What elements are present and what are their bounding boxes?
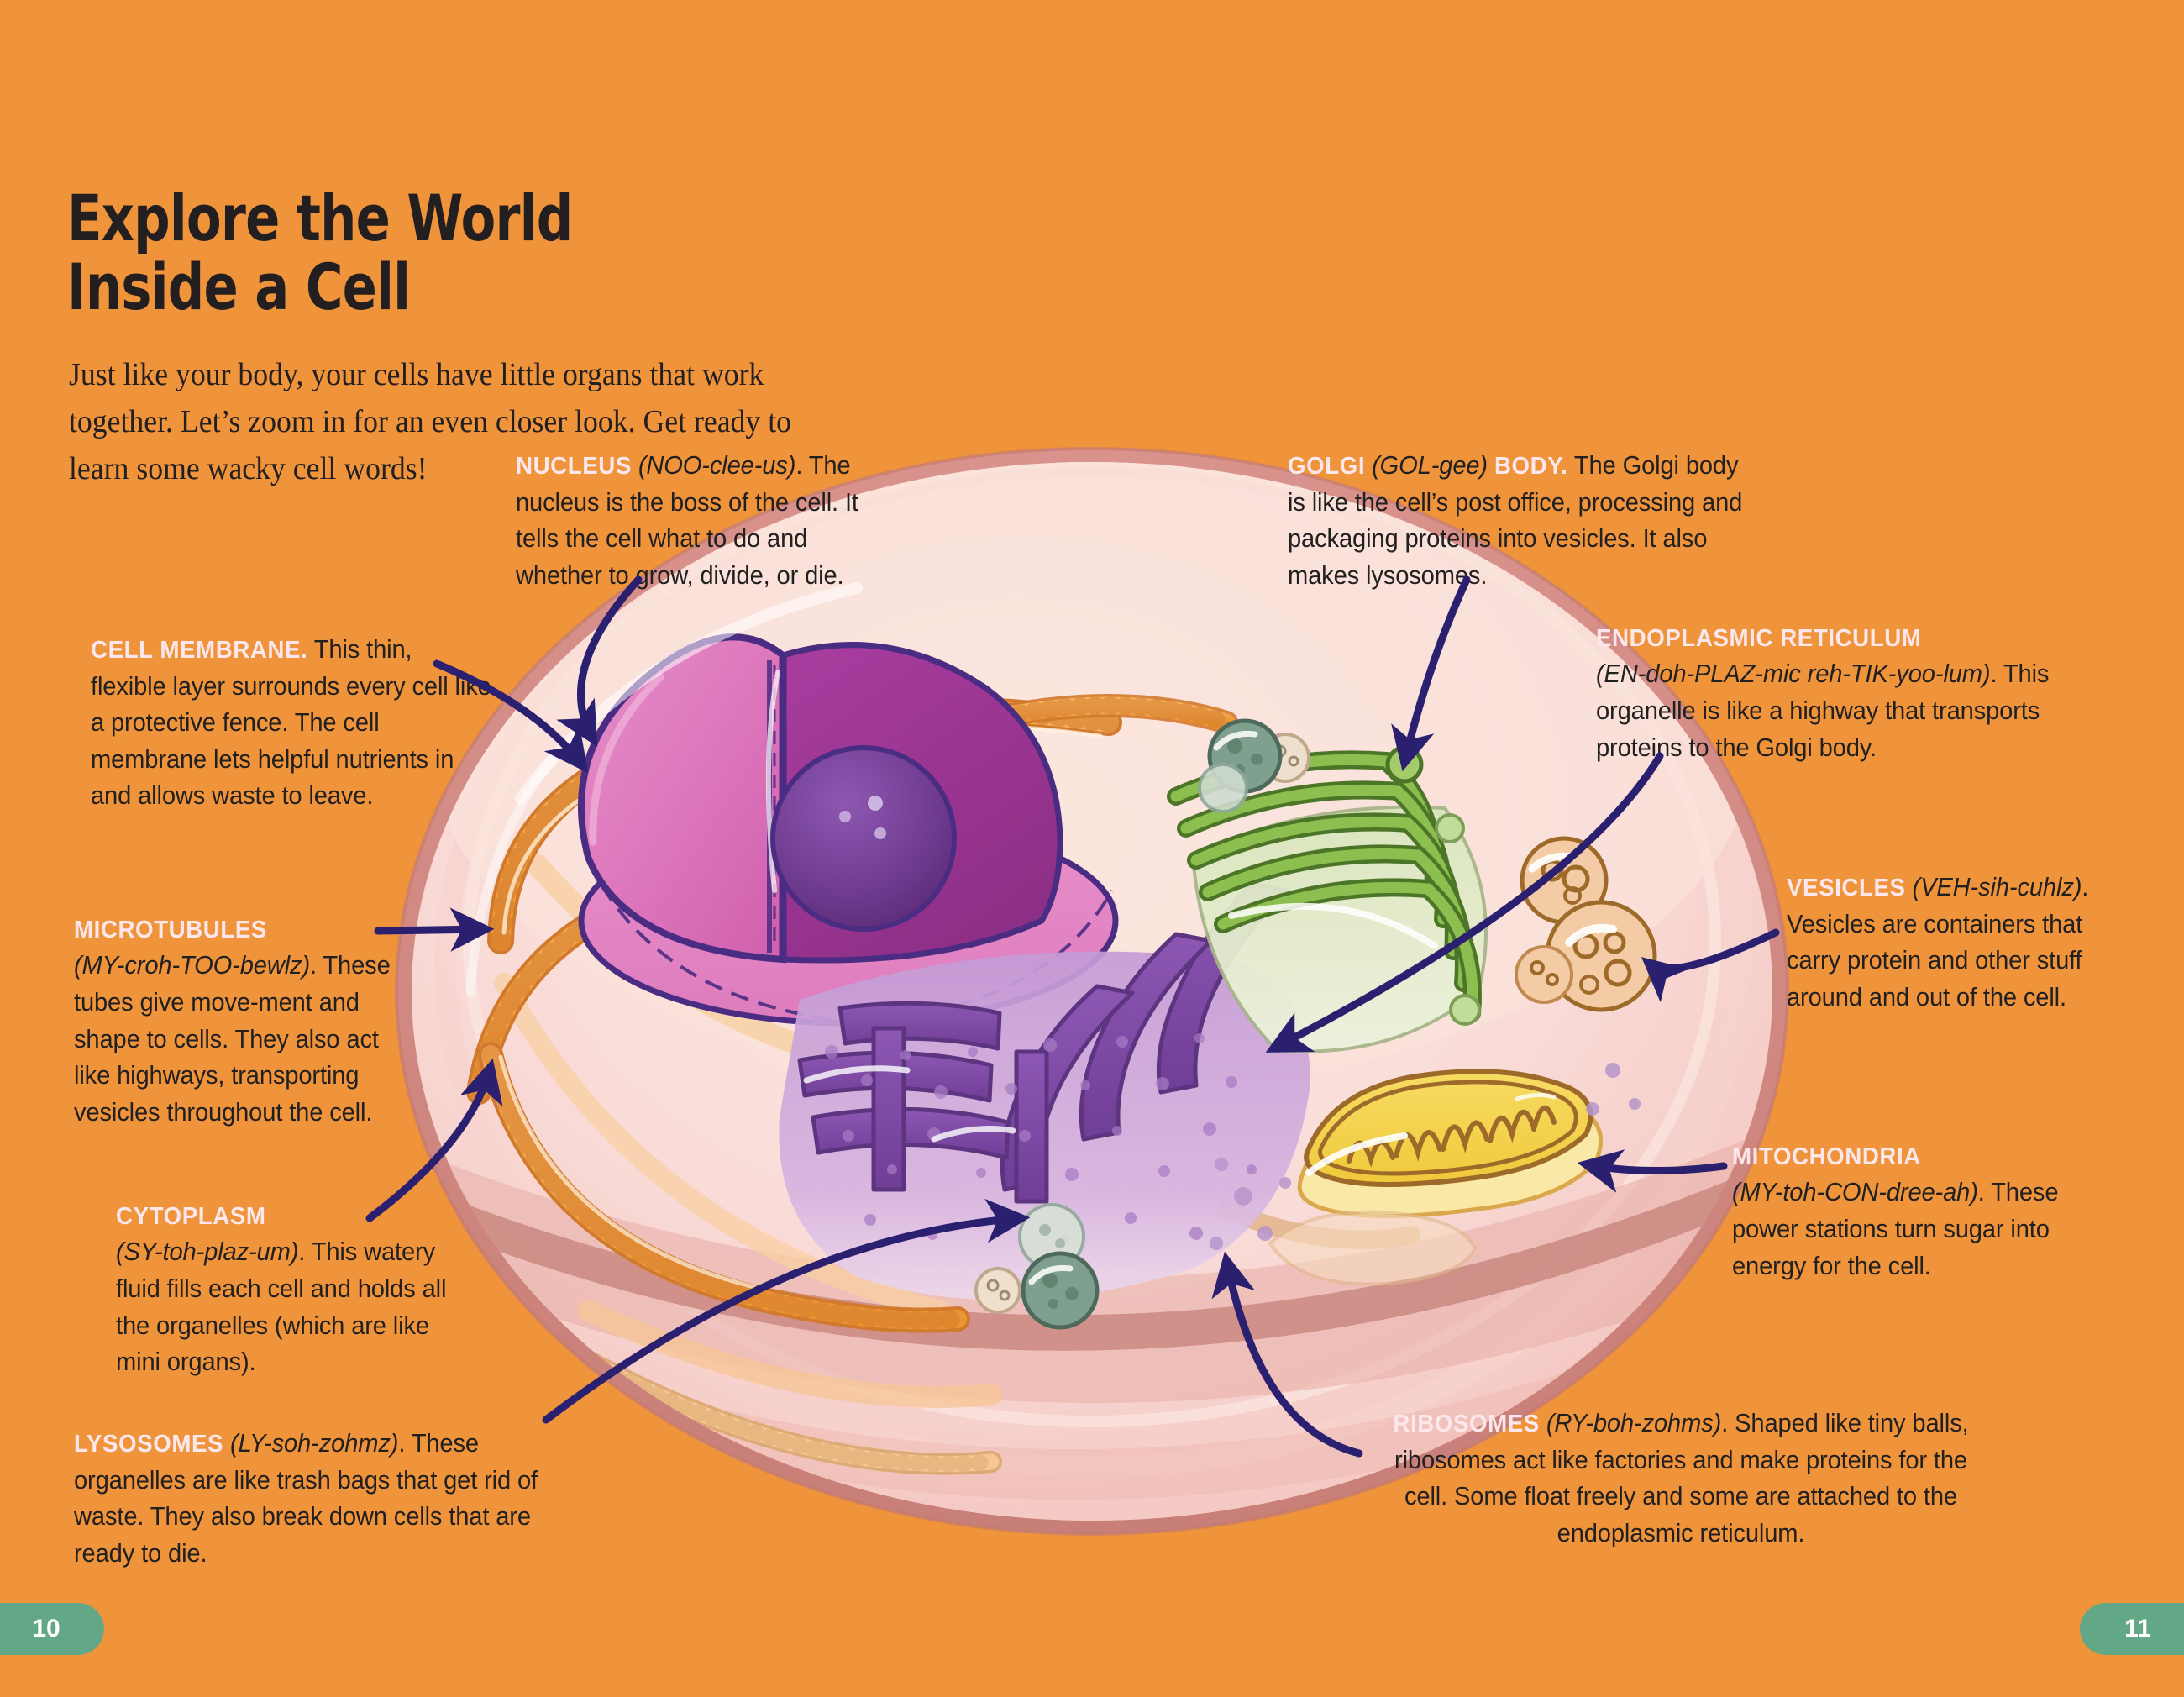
- callout-pronunciation-ribosomes: (RY-boh-zohms): [1546, 1409, 1721, 1437]
- lysosome-4: [1023, 1253, 1097, 1327]
- callout-term-nucleus: NUCLEUS: [516, 453, 632, 480]
- callout-endoplasmic-reticulum: ENDOPLASMIC RETICULUM (EN-doh-PLAZ-mic r…: [1596, 622, 2061, 766]
- callout-pronunciation-microtubules: (MY-croh-TOO-bewlz): [74, 951, 310, 980]
- callout-cytoplasm: CYTOPLASM (SY-toh-plaz-um). This watery …: [116, 1200, 469, 1381]
- callout-ribosomes: RIBOSOMES (RY-boh-zohms). Shaped like ti…: [1380, 1405, 1982, 1552]
- callout-golgi: GOLGI (GOL-gee) BODY. The Golgi body is …: [1288, 448, 1753, 594]
- callout-term-mitochondria: MITOCHONDRIA: [1732, 1140, 2093, 1174]
- callout-pronunciation-cytoplasm: (SY-toh-plaz-um): [116, 1237, 298, 1266]
- page-number-left: 10: [0, 1603, 104, 1655]
- callout-vesicles: VESICLES (VEH-sih-cuhlz). Vesicles are c…: [1787, 870, 2108, 1016]
- lysosome-2: [1200, 764, 1247, 812]
- callout-term-vesicles: VESICLES: [1787, 875, 1906, 901]
- vesicle-3: [1516, 947, 1572, 1002]
- callout-term-cytoplasm: CYTOPLASM: [116, 1200, 469, 1234]
- callout-term-lysosomes: LYSOSOMES: [74, 1431, 223, 1458]
- callout-term-golgi: GOLGI: [1288, 453, 1365, 480]
- callout-pronunciation-nucleus: (NOO-clee-us): [638, 451, 795, 480]
- callout-cell-membrane: CELL MEMBRANE. This thin, flexible layer…: [91, 632, 492, 815]
- page-number-right: 11: [2080, 1603, 2184, 1655]
- callout-pronunciation-golgi: (GOL-gee): [1372, 451, 1488, 480]
- callout-pronunciation-vesicles: (VEH-sih-cuhlz): [1913, 873, 2082, 901]
- vesicle-5: [976, 1269, 1020, 1312]
- callout-term-endoplasmic-reticulum: ENDOPLASMIC RETICULUM: [1596, 622, 2061, 656]
- callout-lysosomes: LYSOSOMES (LY-soh-zohmz). These organell…: [74, 1426, 539, 1572]
- callout-term-microtubules: MICROTUBULES: [74, 913, 395, 948]
- callout-term-cell-membrane: CELL MEMBRANE.: [91, 637, 307, 664]
- callout-term-golgi-body: BODY.: [1494, 453, 1568, 480]
- callout-pronunciation-lysosomes: (LY-soh-zohmz): [230, 1429, 398, 1458]
- nucleolus: [773, 748, 954, 929]
- callout-pronunciation-mitochondria: (MY-toh-CON-dree-ah): [1732, 1178, 1978, 1206]
- callout-nucleus: NUCLEUS (NOO-clee-us). The nucleus is th…: [516, 448, 893, 594]
- callout-microtubules: MICROTUBULES (MY-croh-TOO-bewlz). These …: [74, 913, 395, 1132]
- callout-mitochondria: MITOCHONDRIA (MY-toh-CON-dree-ah). These…: [1732, 1140, 2093, 1285]
- callout-term-ribosomes: RIBOSOMES: [1393, 1411, 1539, 1437]
- callout-pronunciation-endoplasmic-reticulum: (EN-doh-PLAZ-mic reh-TIK-yoo-lum): [1596, 659, 1990, 688]
